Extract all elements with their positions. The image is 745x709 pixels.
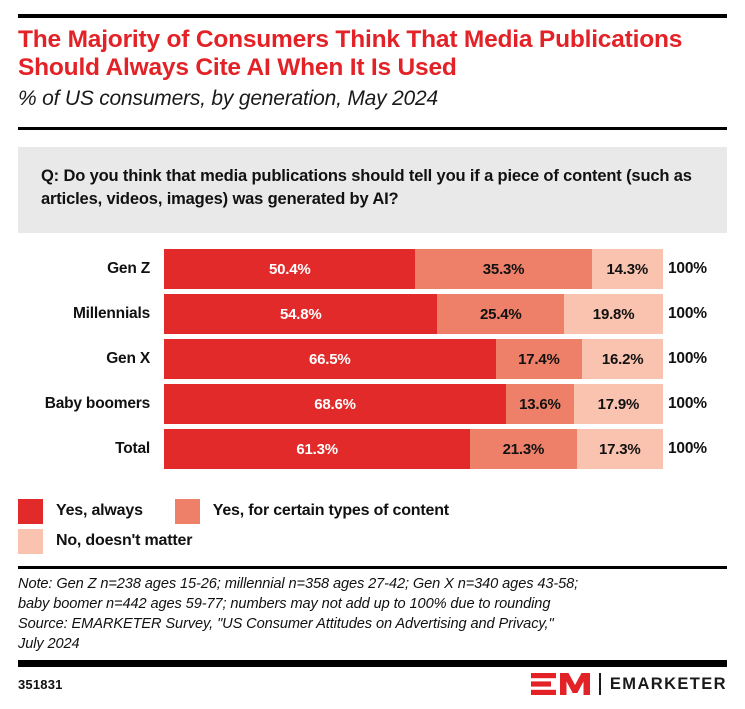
segment-value-label: 35.3% <box>483 261 525 278</box>
row-label: Total <box>0 429 150 469</box>
stacked-bar: 50.4%35.3%14.3% <box>164 249 663 289</box>
segment-value-label: 19.8% <box>593 306 635 323</box>
emarketer-logo: EMARKETER <box>531 672 727 696</box>
bar-segment: 17.3% <box>577 429 663 469</box>
infographic-page: The Majority of Consumers Think That Med… <box>0 0 745 709</box>
stacked-bar: 54.8%25.4%19.8% <box>164 294 663 334</box>
logo-divider <box>599 673 601 695</box>
row-label: Baby boomers <box>0 384 150 424</box>
segment-value-label: 50.4% <box>269 261 311 278</box>
source-line-1: Source: EMARKETER Survey, "US Consumer A… <box>18 614 730 634</box>
legend-label: Yes, for certain types of content <box>213 502 449 520</box>
stacked-bar: 61.3%21.3%17.3% <box>164 429 663 469</box>
legend-item[interactable]: No, doesn't matter <box>18 529 192 554</box>
note-line-1: Note: Gen Z n=238 ages 15-26; millennial… <box>18 574 730 594</box>
page-subtitle: % of US consumers, by generation, May 20… <box>18 87 730 111</box>
top-rule <box>18 14 727 18</box>
bar-segment: 19.8% <box>564 294 663 334</box>
note-line-2: baby boomer n=442 ages 59-77; numbers ma… <box>18 594 730 614</box>
legend-line: No, doesn't matter <box>18 526 727 556</box>
chart-id: 351831 <box>18 677 63 692</box>
source-line-2: July 2024 <box>18 634 730 654</box>
segment-value-label: 68.6% <box>314 396 356 413</box>
bar-segment: 13.6% <box>506 384 574 424</box>
bar-segment: 17.9% <box>574 384 663 424</box>
chart-row: Millennials54.8%25.4%19.8%100% <box>0 294 745 339</box>
segment-value-label: 66.5% <box>309 351 351 368</box>
chart-row: Gen Z50.4%35.3%14.3%100% <box>0 249 745 294</box>
segment-value-label: 17.4% <box>518 351 560 368</box>
note-rule <box>18 566 727 569</box>
segment-value-label: 54.8% <box>280 306 322 323</box>
row-total-label: 100% <box>668 339 707 379</box>
em-monogram-icon <box>531 672 591 696</box>
bar-segment: 68.6% <box>164 384 506 424</box>
segment-value-label: 14.3% <box>607 261 649 278</box>
logo-wordmark: EMARKETER <box>610 675 727 694</box>
chart-row: Gen X66.5%17.4%16.2%100% <box>0 339 745 384</box>
bar-segment: 17.4% <box>496 339 583 379</box>
legend-label: No, doesn't matter <box>56 532 192 550</box>
row-total-label: 100% <box>668 249 707 289</box>
bar-segment: 16.2% <box>582 339 663 379</box>
bar-segment: 14.3% <box>592 249 663 289</box>
chart-legend: Yes, alwaysYes, for certain types of con… <box>18 496 727 556</box>
row-label: Gen X <box>0 339 150 379</box>
chart-row: Total61.3%21.3%17.3%100% <box>0 429 745 474</box>
legend-swatch-icon <box>18 529 43 554</box>
notes-block: Note: Gen Z n=238 ages 15-26; millennial… <box>18 574 730 655</box>
segment-value-label: 61.3% <box>296 441 338 458</box>
question-text: Q: Do you think that media publications … <box>41 165 701 212</box>
segment-value-label: 25.4% <box>480 306 522 323</box>
bar-segment: 25.4% <box>437 294 564 334</box>
row-label: Millennials <box>0 294 150 334</box>
bar-segment: 21.3% <box>470 429 576 469</box>
stacked-bar: 66.5%17.4%16.2% <box>164 339 663 379</box>
row-label: Gen Z <box>0 249 150 289</box>
header: The Majority of Consumers Think That Med… <box>18 26 730 111</box>
legend-label: Yes, always <box>56 502 143 520</box>
segment-value-label: 21.3% <box>503 441 545 458</box>
legend-line: Yes, alwaysYes, for certain types of con… <box>18 496 727 526</box>
question-box: Q: Do you think that media publications … <box>18 147 727 233</box>
segment-value-label: 16.2% <box>602 351 644 368</box>
row-total-label: 100% <box>668 429 707 469</box>
bottom-rule <box>18 660 727 667</box>
segment-value-label: 13.6% <box>519 396 561 413</box>
bar-segment: 61.3% <box>164 429 470 469</box>
segment-value-label: 17.3% <box>599 441 641 458</box>
bar-segment: 54.8% <box>164 294 437 334</box>
legend-swatch-icon <box>175 499 200 524</box>
segment-value-label: 17.9% <box>598 396 640 413</box>
legend-item[interactable]: Yes, always <box>18 499 143 524</box>
bar-segment: 66.5% <box>164 339 496 379</box>
stacked-bar: 68.6%13.6%17.9% <box>164 384 663 424</box>
chart-row: Baby boomers68.6%13.6%17.9%100% <box>0 384 745 429</box>
row-total-label: 100% <box>668 294 707 334</box>
bar-segment: 50.4% <box>164 249 415 289</box>
stacked-bar-chart: Gen Z50.4%35.3%14.3%100%Millennials54.8%… <box>0 249 745 474</box>
page-title: The Majority of Consumers Think That Med… <box>18 26 730 83</box>
bar-segment: 35.3% <box>415 249 591 289</box>
legend-swatch-icon <box>18 499 43 524</box>
row-total-label: 100% <box>668 384 707 424</box>
legend-item[interactable]: Yes, for certain types of content <box>175 499 449 524</box>
title-rule <box>18 127 727 130</box>
